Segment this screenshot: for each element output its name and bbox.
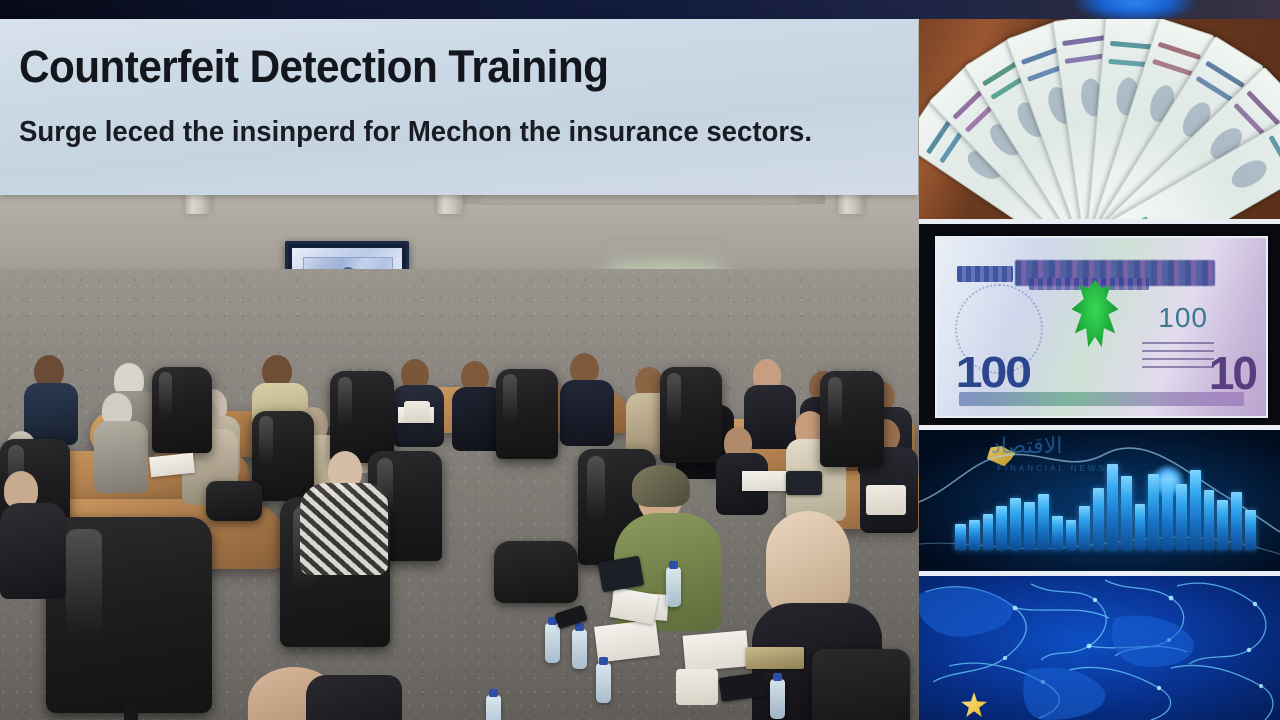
chair-base-left [96,687,166,697]
water-bottle-2 [572,629,587,669]
chart-bar [955,524,966,550]
right-image-rail: 100 100 10 الاقتصاد FINANCIAL NEWS [919,19,1280,720]
panel-divider-3 [919,571,1280,576]
chart-bar [1093,488,1104,550]
chart-bar [1190,470,1201,550]
tissue-box-center [404,401,430,423]
chart-bar [1107,464,1118,550]
chart-bar [1079,506,1090,550]
page-title: Counterfeit Detection Training [19,41,608,93]
chart-bar [1038,494,1049,550]
office-chair-foreground-left [46,517,212,713]
notebook-right [746,647,804,669]
water-bottle-4 [486,695,501,720]
chart-bar [1066,520,1077,550]
note-value-center: 100 [1158,302,1208,334]
office-chair-back-5 [820,371,884,467]
panel-financial-chart: الاقتصاد FINANCIAL NEWS [919,428,1280,574]
screenshot-root: Counterfeit Detection Training Surge lec… [0,0,1280,720]
water-bottle-3 [596,663,611,703]
tissue-box-front [676,669,718,705]
handbag-right [812,649,910,720]
chart-bar [1024,502,1035,550]
office-chair-back-4 [660,367,722,463]
chair-post-left [124,705,138,720]
chart-bar [1135,504,1146,550]
office-chair-back-3 [496,369,558,459]
chart-bar [1245,510,1256,550]
headscarf-beige [766,511,850,617]
document-front-center [683,630,750,671]
headscarf-green [632,465,690,507]
panel-divider-2 [919,425,1280,430]
chair-base-right [300,637,364,646]
document-right-table [742,471,786,491]
chart-bars [955,464,1256,550]
chart-bar [983,514,994,550]
chart-bar [1052,516,1063,550]
chart-bar [1148,474,1159,550]
panel-dinar-note: 100 100 10 [919,222,1280,428]
chart-bar [996,506,1007,550]
top-dark-band [0,0,1280,19]
tablet-right [786,471,822,495]
water-bottle-1 [545,623,560,663]
dinar-banknote: 100 100 10 [935,236,1268,418]
chart-bar [1010,498,1021,550]
page-subtitle: Surge leced the insinperd for Mechon the… [19,115,846,151]
title-banner: Counterfeit Detection Training Surge lec… [0,19,918,195]
water-bottle-6 [770,679,785,719]
chart-bar [969,520,980,550]
chart-bar [1217,500,1228,550]
office-chair-back-1 [152,367,212,453]
panel-divider-1 [919,219,1280,224]
backpack-on-table [494,541,578,603]
panel-money-fan [919,19,1280,222]
chart-bar [1162,478,1173,550]
tissue-box-right [866,485,906,515]
chart-bar [1121,476,1132,550]
panel-world-map [919,574,1280,720]
eagle-emblem-icon [1067,280,1123,366]
chart-bar [1176,484,1187,550]
water-bottle-5 [666,567,681,607]
note-value-left: 100 [956,348,1030,398]
chart-bar [1231,492,1242,550]
office-chair-back-2 [330,371,394,463]
chart-bar [1204,490,1215,550]
bag-back-table [206,481,262,521]
